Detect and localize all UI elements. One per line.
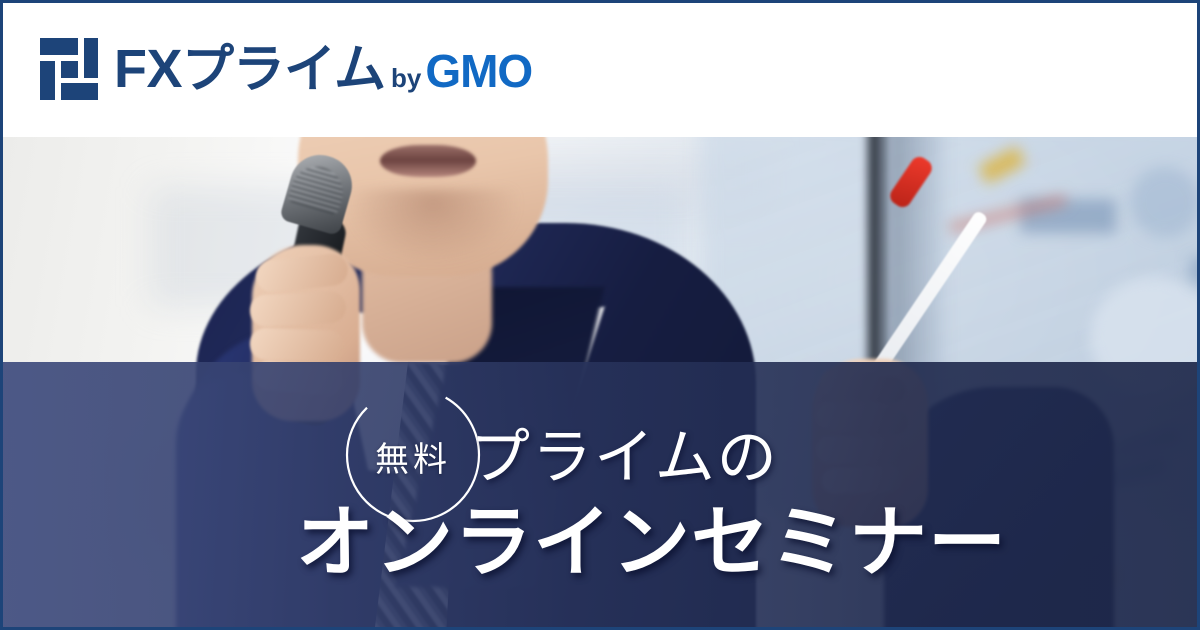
finger	[249, 291, 347, 328]
logo-text-by: by	[391, 65, 421, 91]
logo-mark-left-bar	[40, 61, 55, 100]
fx-prime-logo-mark-icon	[40, 38, 98, 100]
logo-mark-center-square	[61, 61, 78, 78]
logo-wordmark: FX プライム by GMO	[114, 42, 532, 96]
logo-text-fx: FX	[114, 42, 182, 96]
free-badge-label: 無料	[342, 432, 484, 481]
seminar-banner: FX プライム by GMO	[0, 0, 1200, 630]
finger	[249, 327, 344, 362]
fx-prime-by-gmo-logo[interactable]: FX プライム by GMO	[40, 34, 532, 104]
mouth	[380, 145, 476, 177]
title-line-main: オンラインセミナー	[296, 504, 1007, 582]
title-block: 無料 プライムの オンラインセミナー	[0, 362, 1200, 630]
pointer-tip	[887, 153, 935, 210]
logo-mark-yellow-bar	[84, 38, 98, 78]
chin-shadow	[348, 189, 518, 263]
banner-header: FX プライム by GMO	[0, 0, 1200, 137]
logo-mark-bottom-bar	[61, 83, 98, 100]
title-line-sub: プライムの	[470, 428, 779, 488]
logo-text-prime: プライム	[182, 44, 385, 96]
logo-mark-top-bar	[40, 38, 78, 55]
logo-text-gmo: GMO	[425, 48, 532, 94]
